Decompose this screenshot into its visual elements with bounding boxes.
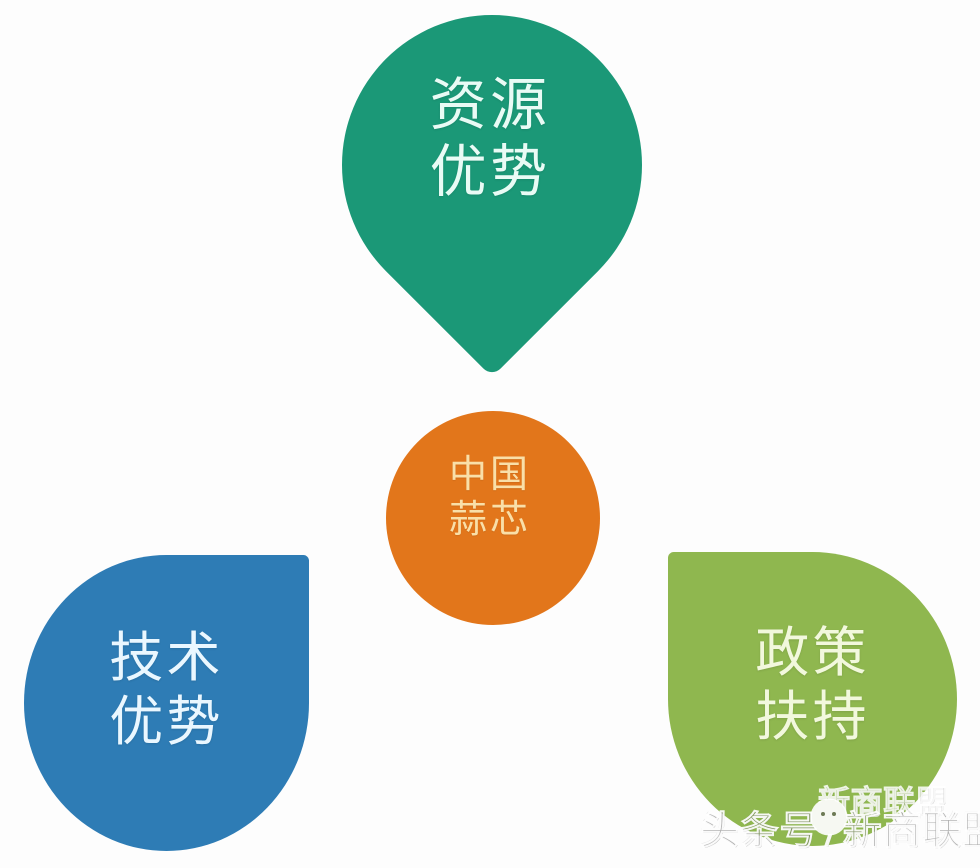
node-resource-advantage[interactable] — [342, 15, 642, 315]
diagram-canvas: 资源 优势 中国 蒜芯 技术 优势 政策 扶持 新商联盟 头条号 / 新商联盟 — [0, 0, 980, 868]
node-resource-shape — [280, 0, 704, 377]
node-center-china-garlic[interactable] — [386, 411, 600, 625]
node-policy-shape — [668, 552, 957, 846]
account-avatar-icon — [812, 800, 846, 834]
node-technology-shape — [24, 555, 309, 851]
node-technology-advantage[interactable] — [24, 555, 309, 851]
node-center-shape — [386, 411, 600, 625]
node-policy-support[interactable] — [668, 552, 957, 846]
